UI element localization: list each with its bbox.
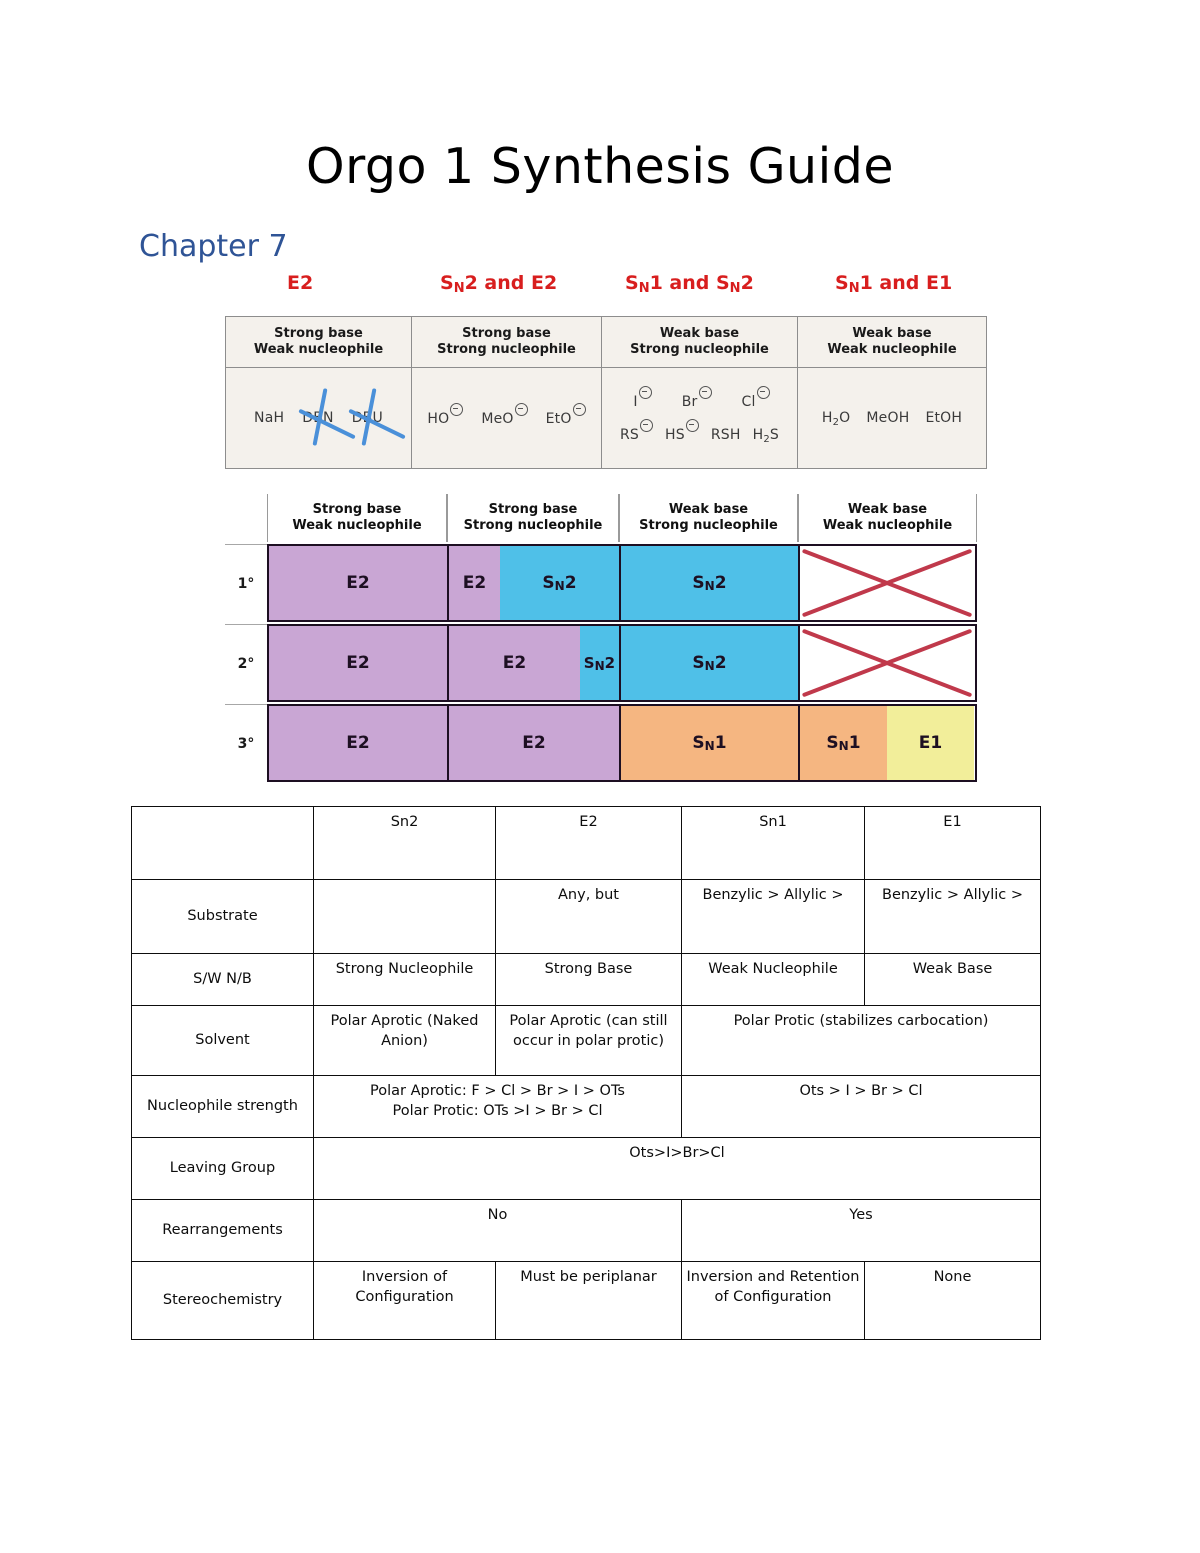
negative-charge-icon bbox=[573, 403, 586, 416]
cell-substrate-e1: Benzylic > Allylic > bbox=[865, 880, 1041, 954]
negative-charge-icon bbox=[639, 386, 652, 399]
header-e1: E1 bbox=[865, 807, 1041, 880]
reagent-column-header: Weak base Weak nucleophile bbox=[798, 317, 986, 368]
reagent-methoxide: MeO bbox=[481, 410, 527, 427]
matrix-segment-e1: E1 bbox=[887, 706, 974, 780]
row-label-strength: S/W N/B bbox=[132, 954, 314, 1006]
table-row: Stereochemistry Inversion of Configurati… bbox=[132, 1262, 1041, 1340]
red-cross-icon bbox=[800, 546, 974, 620]
matrix-row-label-secondary: 2° bbox=[225, 624, 267, 702]
reagent-water: H2O bbox=[822, 410, 851, 426]
matrix-segment-sn2: SN2 bbox=[580, 626, 619, 700]
matrix-header-base: Strong base bbox=[313, 502, 402, 518]
reagent-hydroxide: HO bbox=[427, 410, 463, 427]
reagent-thiolate: RS bbox=[620, 426, 653, 443]
matrix-cell: E2 bbox=[269, 706, 449, 780]
matrix-cell: SN1 E1 bbox=[800, 706, 974, 780]
matrix-row-cells: E2 E2 SN2 SN2 bbox=[267, 624, 977, 702]
reagent-col-base: Strong base bbox=[462, 326, 551, 342]
cell-solvent-sn1-e1: Polar Protic (stabilizes carbocation) bbox=[682, 1006, 1041, 1076]
reagent-column-header: Weak base Strong nucleophile bbox=[602, 317, 797, 368]
reagent-thiol: RSH bbox=[711, 427, 741, 443]
reagent-col-nucleophile: Weak nucleophile bbox=[827, 342, 956, 358]
cell-stereo-e2: Must be periplanar bbox=[496, 1262, 682, 1340]
matrix-segment-e2: E2 bbox=[269, 546, 447, 620]
reagent-col-base: Weak base bbox=[852, 326, 931, 342]
reagent-dbu-struck: DBU bbox=[352, 410, 383, 426]
reagent-nah: NaH bbox=[254, 410, 284, 426]
matrix-header-nucleophile: Strong nucleophile bbox=[639, 518, 778, 534]
matrix-header-nucleophile: Strong nucleophile bbox=[464, 518, 603, 534]
reagent-column-body: HO MeO EtO bbox=[412, 368, 601, 468]
reagent-bromide: Br bbox=[682, 393, 712, 410]
reagent-chloride: Cl bbox=[742, 393, 770, 410]
reagent-col-base: Weak base bbox=[660, 326, 739, 342]
mechanism-comparison-table: Sn2 E2 Sn1 E1 Substrate Any, but Benzyli… bbox=[131, 806, 1041, 1340]
matrix-segment-e2: E2 bbox=[269, 626, 447, 700]
negative-charge-icon bbox=[699, 386, 712, 399]
matrix-cell-no-reaction bbox=[800, 546, 974, 620]
reagent-column-weak-base-weak-nuc: Weak base Weak nucleophile H2O MeOH EtOH bbox=[798, 317, 986, 468]
reagent-ethanol: EtOH bbox=[925, 410, 962, 426]
matrix-header-nucleophile: Weak nucleophile bbox=[823, 518, 952, 534]
red-cross-icon bbox=[800, 626, 974, 700]
matrix-cell: E2 SN2 bbox=[449, 546, 621, 620]
matrix-header-nucleophile: Weak nucleophile bbox=[292, 518, 421, 534]
reagent-column-body: NaH DBN DBU bbox=[226, 368, 411, 468]
reagent-hydrosulfide: HS bbox=[665, 426, 699, 443]
matrix-segment-e2: E2 bbox=[269, 706, 447, 780]
matrix-row: 3° E2 E2 SN1 SN1 E1 bbox=[225, 704, 977, 782]
matrix-cell: E2 bbox=[449, 706, 621, 780]
matrix-header-base: Weak base bbox=[848, 502, 927, 518]
cell-nucstrength-sn2-e2: Polar Aprotic: F > Cl > Br > I > OTs Pol… bbox=[314, 1076, 682, 1138]
matrix-cell: E2 SN2 bbox=[449, 626, 621, 700]
row-label-rearrangements: Rearrangements bbox=[132, 1200, 314, 1262]
matrix-header-weak-base-weak-nuc: Weak base Weak nucleophile bbox=[798, 494, 977, 542]
reagent-column-strong-base-weak-nuc: Strong base Weak nucleophile NaH DBN DBU bbox=[226, 317, 412, 468]
matrix-header-base: Weak base bbox=[669, 502, 748, 518]
reagent-column-strong-base-strong-nuc: Strong base Strong nucleophile HO MeO Et… bbox=[412, 317, 602, 468]
matrix-cell: SN1 bbox=[621, 706, 800, 780]
reagent-column-weak-base-strong-nuc: Weak base Strong nucleophile I Br Cl RS … bbox=[602, 317, 798, 468]
reaction-label-sn1-and-e1: SN1 and E1 bbox=[835, 272, 952, 294]
cell-substrate-e2: Any, but bbox=[496, 880, 682, 954]
reagent-col-nucleophile: Strong nucleophile bbox=[630, 342, 769, 358]
matrix-row: 1° E2 E2 SN2 SN2 bbox=[225, 544, 977, 622]
matrix-row-cells: E2 E2 SN2 SN2 bbox=[267, 544, 977, 622]
cell-rearrangements-sn1-e1: Yes bbox=[682, 1200, 1041, 1262]
reagent-column-header: Strong base Weak nucleophile bbox=[226, 317, 411, 368]
table-row: Rearrangements No Yes bbox=[132, 1200, 1041, 1262]
table-row: Leaving Group Ots>I>Br>Cl bbox=[132, 1138, 1041, 1200]
table-header-row: Sn2 E2 Sn1 E1 bbox=[132, 807, 1041, 880]
cell-stereo-sn2: Inversion of Configuration bbox=[314, 1262, 496, 1340]
matrix-cell: SN2 bbox=[621, 626, 800, 700]
negative-charge-icon bbox=[686, 419, 699, 432]
cell-strength-e1: Weak Base bbox=[865, 954, 1041, 1006]
reaction-label-sn2-and-e2: SN2 and E2 bbox=[440, 272, 557, 294]
matrix-segment-e2: E2 bbox=[449, 546, 500, 620]
header-sn1: Sn1 bbox=[682, 807, 865, 880]
chapter-heading: Chapter 7 bbox=[139, 229, 288, 264]
matrix-segment-e2: E2 bbox=[449, 706, 619, 780]
matrix-segment-sn2: SN2 bbox=[500, 546, 619, 620]
matrix-header-weak-base-strong-nuc: Weak base Strong nucleophile bbox=[619, 494, 798, 542]
negative-charge-icon bbox=[640, 419, 653, 432]
negative-charge-icon bbox=[450, 403, 463, 416]
reagent-dbn-struck: DBN bbox=[302, 410, 333, 426]
negative-charge-icon bbox=[515, 403, 528, 416]
matrix-cell: E2 bbox=[269, 626, 449, 700]
table-row: Nucleophile strength Polar Aprotic: F > … bbox=[132, 1076, 1041, 1138]
reaction-label-sn1-and-sn2: SN1 and SN2 bbox=[625, 272, 754, 294]
header-e2: E2 bbox=[496, 807, 682, 880]
matrix-row-cells: E2 E2 SN1 SN1 E1 bbox=[267, 704, 977, 782]
table-row: Substrate Any, but Benzylic > Allylic > … bbox=[132, 880, 1041, 954]
cell-stereo-e1: None bbox=[865, 1262, 1041, 1340]
cell-solvent-sn2: Polar Aprotic (Naked Anion) bbox=[314, 1006, 496, 1076]
matrix-segment-sn1: SN1 bbox=[800, 706, 887, 780]
matrix-row-label-primary: 1° bbox=[225, 544, 267, 622]
reaction-type-labels: E2 SN2 and E2 SN1 and SN2 SN1 and E1 bbox=[225, 272, 990, 302]
reagent-column-body: H2O MeOH EtOH bbox=[798, 368, 986, 468]
matrix-cell: E2 bbox=[269, 546, 449, 620]
row-label-substrate: Substrate bbox=[132, 880, 314, 954]
reagent-col-base: Strong base bbox=[274, 326, 363, 342]
matrix-header-base: Strong base bbox=[489, 502, 578, 518]
matrix-column-headers: Strong base Weak nucleophile Strong base… bbox=[267, 494, 977, 542]
cell-strength-sn2: Strong Nucleophile bbox=[314, 954, 496, 1006]
cell-leaving-group-all: Ots>I>Br>Cl bbox=[314, 1138, 1041, 1200]
substitution-elimination-matrix: Strong base Weak nucleophile Strong base… bbox=[225, 494, 977, 786]
matrix-segment-sn1: SN1 bbox=[621, 706, 798, 780]
cell-rearrangements-sn2-e2: No bbox=[314, 1200, 682, 1262]
row-label-leaving-group: Leaving Group bbox=[132, 1138, 314, 1200]
matrix-segment-sn2: SN2 bbox=[621, 626, 798, 700]
matrix-cell-no-reaction bbox=[800, 626, 974, 700]
cell-nucstrength-sn1-e1: Ots > I > Br > Cl bbox=[682, 1076, 1041, 1138]
matrix-row: 2° E2 E2 SN2 SN2 bbox=[225, 624, 977, 702]
reagent-col-nucleophile: Weak nucleophile bbox=[254, 342, 383, 358]
reagent-column-body: I Br Cl RS HS RSH H2S bbox=[602, 368, 797, 468]
header-sn2: Sn2 bbox=[314, 807, 496, 880]
negative-charge-icon bbox=[757, 386, 770, 399]
matrix-segment-e2: E2 bbox=[449, 626, 580, 700]
header-blank bbox=[132, 807, 314, 880]
reagent-classification-table: Strong base Weak nucleophile NaH DBN DBU bbox=[225, 316, 987, 469]
row-label-solvent: Solvent bbox=[132, 1006, 314, 1076]
cell-stereo-sn1: Inversion and Retention of Configuration bbox=[682, 1262, 865, 1340]
reagent-hydrogen-sulfide: H2S bbox=[753, 427, 779, 443]
cell-strength-sn1: Weak Nucleophile bbox=[682, 954, 865, 1006]
page-title: Orgo 1 Synthesis Guide bbox=[0, 138, 1200, 195]
matrix-row-label-tertiary: 3° bbox=[225, 704, 267, 782]
reagent-column-header: Strong base Strong nucleophile bbox=[412, 317, 601, 368]
reagent-ethoxide: EtO bbox=[546, 410, 586, 427]
table-row: S/W N/B Strong Nucleophile Strong Base W… bbox=[132, 954, 1041, 1006]
cell-substrate-sn2 bbox=[314, 880, 496, 954]
cell-strength-e2: Strong Base bbox=[496, 954, 682, 1006]
matrix-header-strong-base-strong-nuc: Strong base Strong nucleophile bbox=[447, 494, 619, 542]
table-row: Solvent Polar Aprotic (Naked Anion) Pola… bbox=[132, 1006, 1041, 1076]
matrix-header-strong-base-weak-nuc: Strong base Weak nucleophile bbox=[267, 494, 447, 542]
cell-substrate-sn1: Benzylic > Allylic > bbox=[682, 880, 865, 954]
reagent-col-nucleophile: Strong nucleophile bbox=[437, 342, 576, 358]
cell-solvent-e2: Polar Aprotic (can still occur in polar … bbox=[496, 1006, 682, 1076]
row-label-nucleophile-strength: Nucleophile strength bbox=[132, 1076, 314, 1138]
reagent-iodide: I bbox=[633, 393, 651, 410]
reaction-label-e2: E2 bbox=[287, 272, 313, 294]
matrix-cell: SN2 bbox=[621, 546, 800, 620]
matrix-segment-sn2: SN2 bbox=[621, 546, 798, 620]
reagent-methanol: MeOH bbox=[866, 410, 909, 426]
row-label-stereochemistry: Stereochemistry bbox=[132, 1262, 314, 1340]
